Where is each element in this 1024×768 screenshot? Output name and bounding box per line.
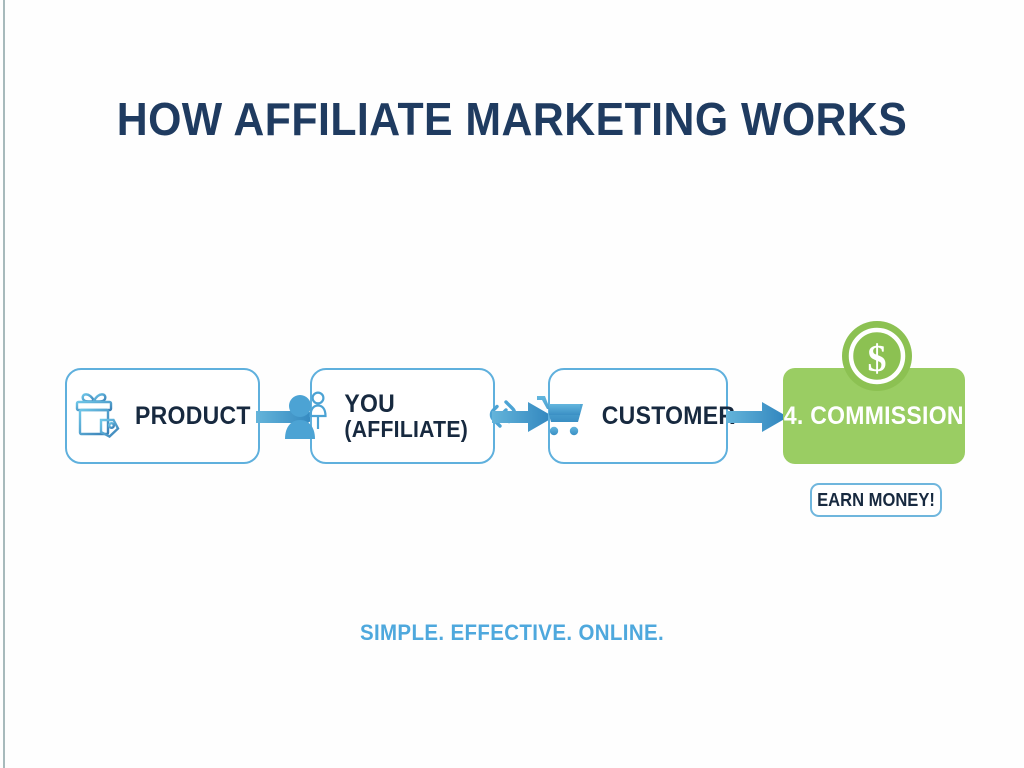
flow-node-sublabel: (AFFILIATE): [345, 417, 469, 441]
shopping-cart-icon: [536, 391, 586, 442]
flow-node-label: YOU (AFFILIATE): [345, 391, 469, 442]
flow-node-label: 4. COMMISSION: [784, 403, 964, 430]
tagline: SIMPLE. EFFECTIVE. ONLINE.: [36, 620, 988, 646]
gift-box-with-price-tag-icon: [70, 388, 120, 445]
earn-money-badge[interactable]: EARN MONEY!: [810, 483, 942, 517]
earn-money-label: EARN MONEY!: [817, 490, 935, 511]
flow-node-you-affiliate[interactable]: YOU (AFFILIATE): [310, 368, 495, 464]
slide-canvas: HOW AFFILIATE MARKETING WORKS: [0, 0, 1024, 768]
people-icon: [283, 389, 329, 444]
page-title: HOW AFFILIATE MARKETING WORKS: [36, 92, 988, 146]
flow-node-label-main: YOU: [345, 390, 396, 418]
dollar-coin-icon: $: [841, 320, 913, 392]
flow-node-label: CUSTOMER: [601, 403, 734, 430]
flow-node-product[interactable]: PRODUCT: [65, 368, 260, 464]
flow-node-label: PRODUCT: [135, 403, 251, 430]
flow-arrow-customer-to-commission: [726, 402, 788, 432]
flow-node-customer[interactable]: CUSTOMER: [548, 368, 728, 464]
svg-text:$: $: [868, 338, 887, 380]
